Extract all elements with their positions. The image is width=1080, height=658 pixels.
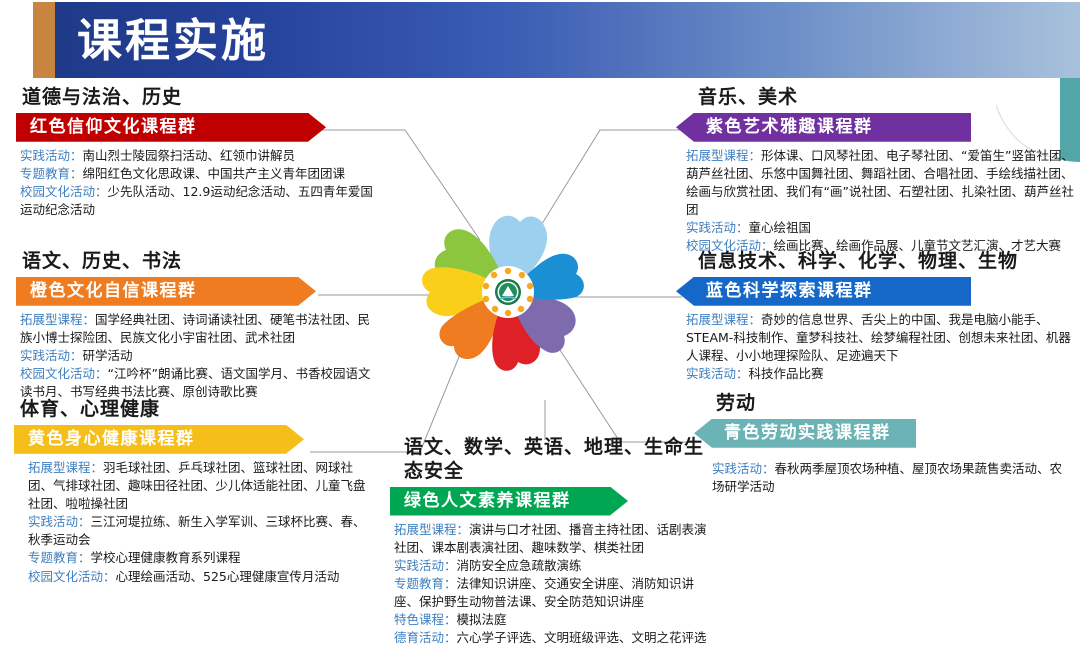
detail-value: 科技作品比赛 (749, 366, 824, 381)
curriculum-block-teal: 劳动 青色劳动实践课程群 实践活动：春秋两季屋顶农场种植、屋顶农场果蔬售卖活动、… (694, 392, 1074, 496)
subject-label: 音乐、美术 (698, 86, 1076, 110)
banner-orange[interactable]: 橙色文化自信课程群 (16, 277, 316, 306)
subject-label: 劳动 (716, 392, 1074, 416)
detail-row: 实践活动：三江河堤拉练、新生入学军训、三球杯比赛、春、秋季运动会 (28, 513, 374, 549)
detail-row: 拓展型课程：奇妙的信息世界、舌尖上的中国、我是电脑小能手、STEAM-科技制作、… (686, 311, 1076, 365)
detail-row: 拓展型课程：国学经典社团、诗词诵读社团、硬笔书法社团、民族小博士探险团、民族文化… (20, 311, 376, 347)
detail-label: 专题教育： (394, 576, 457, 591)
detail-label: 实践活动： (394, 558, 457, 573)
detail-row: 实践活动：消防安全应急疏散演练 (394, 557, 710, 575)
page-title: 课程实施 (77, 18, 269, 63)
subject-label: 道德与法治、历史 (22, 86, 376, 110)
detail-value: 学校心理健康教育系列课程 (91, 550, 241, 565)
detail-label: 德育活动： (394, 630, 457, 645)
detail-value: 模拟法庭 (457, 612, 507, 627)
detail-list: 拓展型课程：羽毛球社团、乒乓球社团、篮球社团、网球社团、气排球社团、趣味田径社团… (28, 459, 374, 586)
banner-green[interactable]: 绿色人文素养课程群 (390, 487, 628, 516)
detail-label: 实践活动： (712, 461, 775, 476)
detail-row: 拓展型课程：羽毛球社团、乒乓球社团、篮球社团、网球社团、气排球社团、趣味田径社团… (28, 459, 374, 513)
detail-row: 校园文化活动：心理绘画活动、525心理健康宣传月活动 (28, 568, 374, 586)
detail-row: 实践活动：南山烈士陵园祭扫活动、红领巾讲解员 (20, 147, 376, 165)
banner-blue[interactable]: 蓝色科学探索课程群 (676, 277, 971, 306)
subject-label: 信息技术、科学、化学、物理、生物 (698, 250, 1076, 274)
banner-yellow[interactable]: 黄色身心健康课程群 (14, 425, 304, 454)
detail-value: 童心绘祖国 (749, 220, 812, 235)
detail-label: 拓展型课程： (28, 460, 103, 475)
seven-petal-flower (408, 192, 608, 392)
detail-row: 德育活动：六心学子评选、文明班级评选、文明之花评选 (394, 629, 710, 647)
detail-list: 拓展型课程：形体课、口风琴社团、电子琴社团、“爱笛生”竖笛社团、葫芦丝社团、乐悠… (686, 147, 1076, 256)
detail-label: 校园文化活动： (28, 569, 116, 584)
detail-list: 拓展型课程：奇妙的信息世界、舌尖上的中国、我是电脑小能手、STEAM-科技制作、… (686, 311, 1076, 384)
detail-row: 专题教育：学校心理健康教育系列课程 (28, 549, 374, 567)
detail-label: 专题教育： (20, 166, 83, 181)
detail-label: 拓展型课程： (686, 312, 761, 327)
detail-label: 专题教育： (28, 550, 91, 565)
curriculum-block-blue: 信息技术、科学、化学、物理、生物 蓝色科学探索课程群 拓展型课程：奇妙的信息世界… (676, 250, 1076, 383)
detail-label: 实践活动： (20, 148, 83, 163)
detail-row: 实践活动：童心绘祖国 (686, 219, 1076, 237)
detail-row: 特色课程：模拟法庭 (394, 611, 710, 629)
detail-list: 实践活动：春秋两季屋顶农场种植、屋顶农场果蔬售卖活动、农场研学活动 (712, 460, 1074, 496)
detail-label: 实践活动： (686, 220, 749, 235)
detail-row: 实践活动：科技作品比赛 (686, 365, 1076, 383)
page-header: 课程实施 (33, 2, 1080, 78)
detail-list: 拓展型课程：演讲与口才社团、播音主持社团、话剧表演社团、课本剧表演社团、趣味数学… (394, 521, 710, 648)
curriculum-block-yellow: 体育、心理健康 黄色身心健康课程群 拓展型课程：羽毛球社团、乒乓球社团、篮球社团… (14, 398, 374, 586)
detail-row: 校园文化活动：少先队活动、12.9运动纪念活动、五四青年爱国运动纪念活动 (20, 183, 376, 219)
detail-row: 实践活动：春秋两季屋顶农场种植、屋顶农场果蔬售卖活动、农场研学活动 (712, 460, 1074, 496)
curriculum-block-orange: 语文、历史、书法 橙色文化自信课程群 拓展型课程：国学经典社团、诗词诵读社团、硬… (16, 250, 376, 401)
detail-row: 拓展型课程：形体课、口风琴社团、电子琴社团、“爱笛生”竖笛社团、葫芦丝社团、乐悠… (686, 147, 1076, 220)
detail-value: 心理绘画活动、525心理健康宣传月活动 (116, 569, 340, 584)
banner-red[interactable]: 红色信仰文化课程群 (16, 113, 326, 142)
detail-label: 实践活动： (28, 514, 91, 529)
header-gradient-bar: 课程实施 (55, 2, 1080, 78)
curriculum-block-green: 语文、数学、英语、地理、生命生态安全 绿色人文素养课程群 拓展型课程：演讲与口才… (390, 436, 710, 647)
detail-label: 校园文化活动： (20, 366, 108, 381)
detail-label: 拓展型课程： (20, 312, 95, 327)
school-emblem-icon (495, 279, 521, 305)
detail-row: 专题教育：绵阳红色文化思政课、中国共产主义青年团团课 (20, 165, 376, 183)
detail-list: 实践活动：南山烈士陵园祭扫活动、红领巾讲解员 专题教育：绵阳红色文化思政课、中国… (20, 147, 376, 220)
detail-label: 拓展型课程： (394, 522, 469, 537)
detail-value: 六心学子评选、文明班级评选、文明之花评选 (457, 630, 707, 645)
detail-value: 研学活动 (83, 348, 133, 363)
banner-purple[interactable]: 紫色艺术雅趣课程群 (676, 113, 971, 142)
detail-value: 消防安全应急疏散演练 (457, 558, 582, 573)
detail-label: 实践活动： (20, 348, 83, 363)
detail-label: 实践活动： (686, 366, 749, 381)
curriculum-block-purple: 音乐、美术 紫色艺术雅趣课程群 拓展型课程：形体课、口风琴社团、电子琴社团、“爱… (676, 86, 1076, 256)
detail-label: 校园文化活动： (20, 184, 108, 199)
detail-list: 拓展型课程：国学经典社团、诗词诵读社团、硬笔书法社团、民族小博士探险团、民族文化… (20, 311, 376, 402)
detail-value: 南山烈士陵园祭扫活动、红领巾讲解员 (83, 148, 296, 163)
detail-row: 校园文化活动：“江吟杯”朗诵比赛、语文国学月、书香校园语文读书月、书写经典书法比… (20, 365, 376, 401)
detail-row: 拓展型课程：演讲与口才社团、播音主持社团、话剧表演社团、课本剧表演社团、趣味数学… (394, 521, 710, 557)
curriculum-block-red: 道德与法治、历史 红色信仰文化课程群 实践活动：南山烈士陵园祭扫活动、红领巾讲解… (16, 86, 376, 219)
detail-label: 特色课程： (394, 612, 457, 627)
banner-teal[interactable]: 青色劳动实践课程群 (694, 419, 916, 448)
detail-row: 专题教育：法律知识讲座、交通安全讲座、消防知识讲座、保护野生动物普法课、安全防范… (394, 575, 710, 611)
detail-label: 拓展型课程： (686, 148, 761, 163)
detail-value: 绵阳红色文化思政课、中国共产主义青年团团课 (83, 166, 346, 181)
header-accent-bar (33, 2, 55, 78)
subject-label: 体育、心理健康 (20, 398, 374, 422)
detail-row: 实践活动：研学活动 (20, 347, 376, 365)
subject-label: 语文、数学、英语、地理、生命生态安全 (404, 436, 710, 484)
subject-label: 语文、历史、书法 (22, 250, 376, 274)
